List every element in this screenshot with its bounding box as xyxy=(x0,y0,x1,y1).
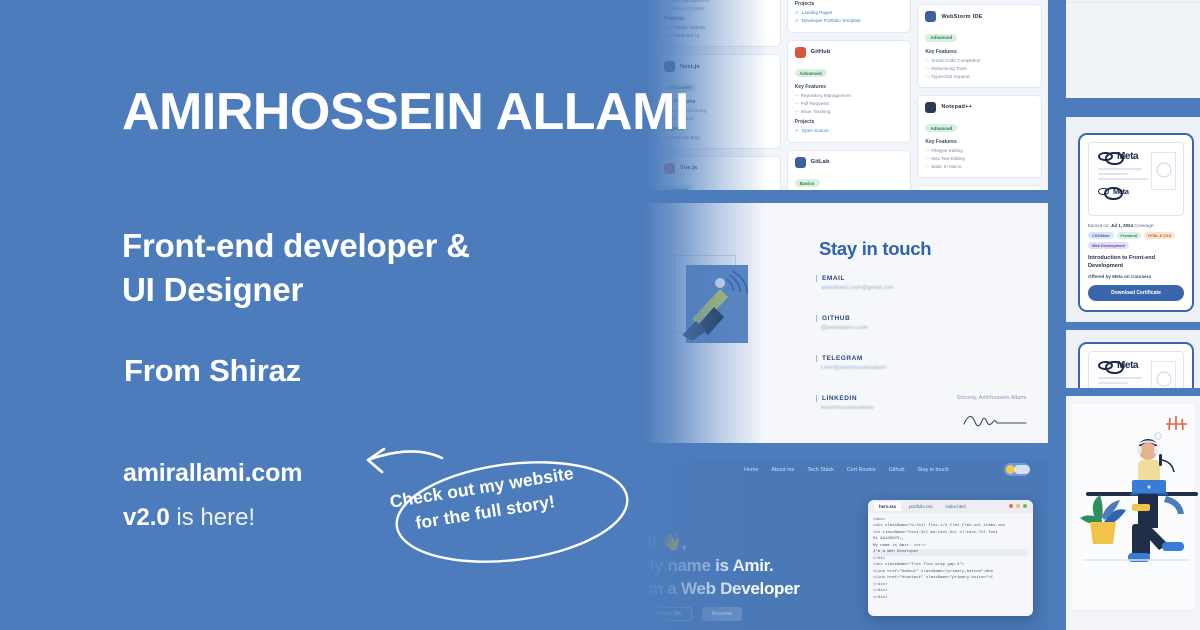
curved-arrow-left-icon xyxy=(368,449,384,472)
role-line-1: Front-end developer & xyxy=(122,224,470,268)
certificate-tag: Frontend xyxy=(1117,232,1141,239)
certificate-image: Meta Meta xyxy=(1088,142,1184,216)
skill-card: GitHubAdvancedKey FeaturesRepository Man… xyxy=(787,40,912,143)
skill-feature: Mac Text Editing xyxy=(925,155,1034,163)
contact-value: in/amirhosseinallami xyxy=(816,405,874,411)
meta-infinity-icon-2 xyxy=(1098,361,1113,370)
skill-name: GitHub xyxy=(811,49,831,55)
skill-badge: Advanced xyxy=(795,69,827,77)
skill-name: WebStorm IDE xyxy=(941,14,982,20)
skill-feature: Refactoring Tools xyxy=(925,65,1034,73)
skill-features-heading: Key Features xyxy=(795,84,904,90)
code-editor-window: hero.tsxportfolio.cssindex.html <div> <d… xyxy=(868,500,1033,616)
code-editor-tab[interactable]: portfolio.css xyxy=(904,502,937,511)
certificate-2-seal xyxy=(1151,361,1176,388)
certificate-tag: HTML & CSS xyxy=(1144,232,1175,239)
website-url[interactable]: amirallami.com xyxy=(123,459,302,488)
code-editor-tabbar: hero.tsxportfolio.cssindex.html xyxy=(868,500,1033,513)
certificate-issued: Earned on: Jul 1, 2024 Coverage: xyxy=(1088,223,1184,228)
skill-features-heading: Key Features xyxy=(925,139,1034,145)
skill-feature: Issue Tracking xyxy=(795,108,904,116)
skill-projects-heading: Projects xyxy=(795,119,904,125)
hero-greet-line1: Hi 👋, xyxy=(640,531,800,554)
contact-value: @amirallami-code xyxy=(816,325,868,331)
download-certificate-button[interactable]: Download Certificate xyxy=(1088,285,1184,301)
nav-item[interactable]: Cert Routes xyxy=(847,467,876,473)
skill-name: Next.js xyxy=(680,64,700,70)
contact-item[interactable]: TELEGRAMt.me/@amirhosseinallami xyxy=(816,355,886,371)
code-editor-tab[interactable]: hero.tsx xyxy=(874,502,901,511)
panel-portfolio-hero-screenshot: HomeAbout meTech StackCert RoutesGithubS… xyxy=(640,459,1048,630)
code-editor-body: <div> <div className="w-full flex-1/2 fl… xyxy=(868,513,1033,605)
contact-label: TELEGRAM xyxy=(816,355,886,362)
skill-feature: Hooks & Context xyxy=(664,5,773,13)
node-icon xyxy=(664,61,675,72)
panel-illustration-screenshot xyxy=(1066,396,1200,630)
skill-name: Notepad++ xyxy=(941,104,972,110)
skill-project-link[interactable]: Landing Pages xyxy=(795,9,904,17)
gitlab-icon xyxy=(795,157,806,168)
handwritten-signature-icon xyxy=(960,407,1030,429)
developer-at-desk-illustration xyxy=(1066,396,1200,630)
skill-badge: Advanced xyxy=(925,124,957,132)
panel-contact-screenshot: Stay in touch EMAILamirallami.code@gmail… xyxy=(644,203,1048,443)
skill-card: Vue.jsLearningKey FeaturesReactivity xyxy=(656,156,781,190)
panel-skills-screenshot: ReactAdvancedKey FeaturesComponent Lifec… xyxy=(648,0,1048,190)
certificate-2-image: Meta xyxy=(1088,351,1184,388)
panel-certificate-screenshot: Meta Meta Earned on: Jul 1, 2024 xyxy=(1066,117,1200,322)
version-number: v2.0 xyxy=(123,504,170,531)
meta-infinity-icon xyxy=(1098,152,1113,161)
hero-greet-line3a: I'm a xyxy=(640,579,681,598)
skill-name: Vue.js xyxy=(680,165,697,171)
certificate-tag: CSS/Meta xyxy=(1088,232,1114,239)
hand-holding-phone-icon xyxy=(662,249,754,341)
notepad-icon xyxy=(925,102,936,113)
skill-project-link[interactable]: Portfolio Website xyxy=(664,24,773,32)
vue-icon xyxy=(664,163,675,174)
contact-item[interactable]: EMAILamirallami.code@gmail.com xyxy=(816,275,894,291)
skill-project-link[interactable]: Open Source xyxy=(795,127,904,135)
page-title: AMIRHOSSEIN ALLAMI xyxy=(122,82,689,142)
site-nav: HomeAbout meTech StackCert RoutesGithubS… xyxy=(744,467,949,473)
nav-item[interactable]: Stay in touch xyxy=(918,467,949,473)
certificate-card: Meta Meta Earned on: Jul 1, 2024 xyxy=(1078,133,1194,312)
version-suffix: is here! xyxy=(170,504,255,531)
github-icon xyxy=(795,47,806,58)
window-controls[interactable] xyxy=(1009,504,1027,508)
role-line-2: UI Designer xyxy=(122,268,470,312)
skill-feature: Pull Requests xyxy=(795,100,904,108)
nav-item[interactable]: About me xyxy=(771,467,794,473)
skill-name: GitLab xyxy=(811,159,830,165)
hero-text-column: AMIRHOSSEIN ALLAMI Front-end developer &… xyxy=(0,0,640,630)
hero-greet-line2a: My name xyxy=(640,556,715,575)
skill-project-link[interactable]: Developer Portfolio Template xyxy=(795,17,904,25)
panel-github-repos-screenshot: Eleman landing pagePublicA modern, respo… xyxy=(1066,0,1200,98)
contact-value: amirallami.code@gmail.com xyxy=(816,285,894,291)
hero-greeting: Hi 👋, My name is Amir. I'm a Web Develop… xyxy=(640,531,800,600)
code-line: </div> xyxy=(873,595,1028,601)
contact-title: Stay in touch xyxy=(819,238,931,260)
signature-note: Sincerly, Amirhossein Allami xyxy=(956,395,1026,401)
hero-button[interactable]: Resume xyxy=(702,607,742,621)
version-line: v2.0 is here! xyxy=(123,504,255,532)
nav-item[interactable]: Home xyxy=(744,467,758,473)
skill-card: WebStorm IDEAdvancedKey FeaturesSmart Co… xyxy=(917,4,1042,88)
contact-item[interactable]: LINKEDINin/amirhosseinallami xyxy=(816,395,874,411)
contact-label: GITHUB xyxy=(816,315,868,322)
callout-bubble: Check out my website for the full story! xyxy=(352,428,632,568)
certificate-name: Introduction to Front-end Development xyxy=(1088,254,1184,270)
role-block: Front-end developer & UI Designer xyxy=(122,224,470,312)
nav-item[interactable]: Github xyxy=(889,467,905,473)
social-preview-card: ReactAdvancedKey FeaturesComponent Lifec… xyxy=(0,0,1200,630)
nav-item[interactable]: Tech Stack xyxy=(807,467,833,473)
location-line: From Shiraz xyxy=(124,353,301,389)
meta-infinity-icon-small xyxy=(1098,188,1109,195)
contact-item[interactable]: GITHUB@amirallami-code xyxy=(816,315,868,331)
repo-card[interactable]: Ai-resume-developerPublicAI-powered Resu… xyxy=(1066,0,1200,3)
hero-greet-line2b: is Amir. xyxy=(715,556,773,575)
skill-badge: Learning xyxy=(664,185,693,190)
code-editor-tab[interactable]: index.html xyxy=(941,502,971,511)
contact-label: LINKEDIN xyxy=(816,395,874,402)
certificate-seal xyxy=(1151,152,1176,190)
panel-certificate-2-screenshot: Meta xyxy=(1066,330,1200,388)
skill-feature: Filetype Editing xyxy=(925,147,1034,155)
skill-features-heading: Key Features xyxy=(925,49,1034,55)
certificate-offered-by: Offered by Meta on Coursera xyxy=(1088,274,1184,279)
skill-project-link[interactable]: Dashboard UI xyxy=(664,32,773,40)
skill-card: GitLabBasics xyxy=(787,150,912,190)
webstorm-icon xyxy=(925,11,936,22)
skill-projects-heading: Projects xyxy=(664,16,773,22)
contact-label: EMAIL xyxy=(816,275,894,282)
skill-feature: Typescript Support xyxy=(925,73,1034,81)
skill-card: Node Package ManagerAdvanced xyxy=(917,185,1042,190)
skill-feature: Repository Management xyxy=(795,92,904,100)
skill-feature: Basic to Macro xyxy=(925,163,1034,171)
hero-greet-line3b: Web Developer xyxy=(681,579,800,598)
skill-badge: Basics xyxy=(795,179,820,187)
certificate-tags: CSS/MetaFrontendHTML & CSSWeb Developmen… xyxy=(1088,232,1184,249)
skill-feature: Smart Code Completion xyxy=(925,57,1034,65)
skill-projects-heading: Projects xyxy=(795,1,904,7)
contact-value: t.me/@amirhosseinallami xyxy=(816,365,886,371)
skill-card: Notepad++AdvancedKey FeaturesFiletype Ed… xyxy=(917,95,1042,179)
hero-button[interactable]: Contact Me xyxy=(644,607,692,621)
certificate-tag: Web Development xyxy=(1088,242,1129,249)
cloud-icon xyxy=(1014,465,1030,474)
skill-card: TailwindKey FeaturesUtility ClassesRespo… xyxy=(787,0,912,33)
skill-badge: Advanced xyxy=(925,34,957,42)
skill-card: ReactAdvancedKey FeaturesComponent Lifec… xyxy=(656,0,781,47)
